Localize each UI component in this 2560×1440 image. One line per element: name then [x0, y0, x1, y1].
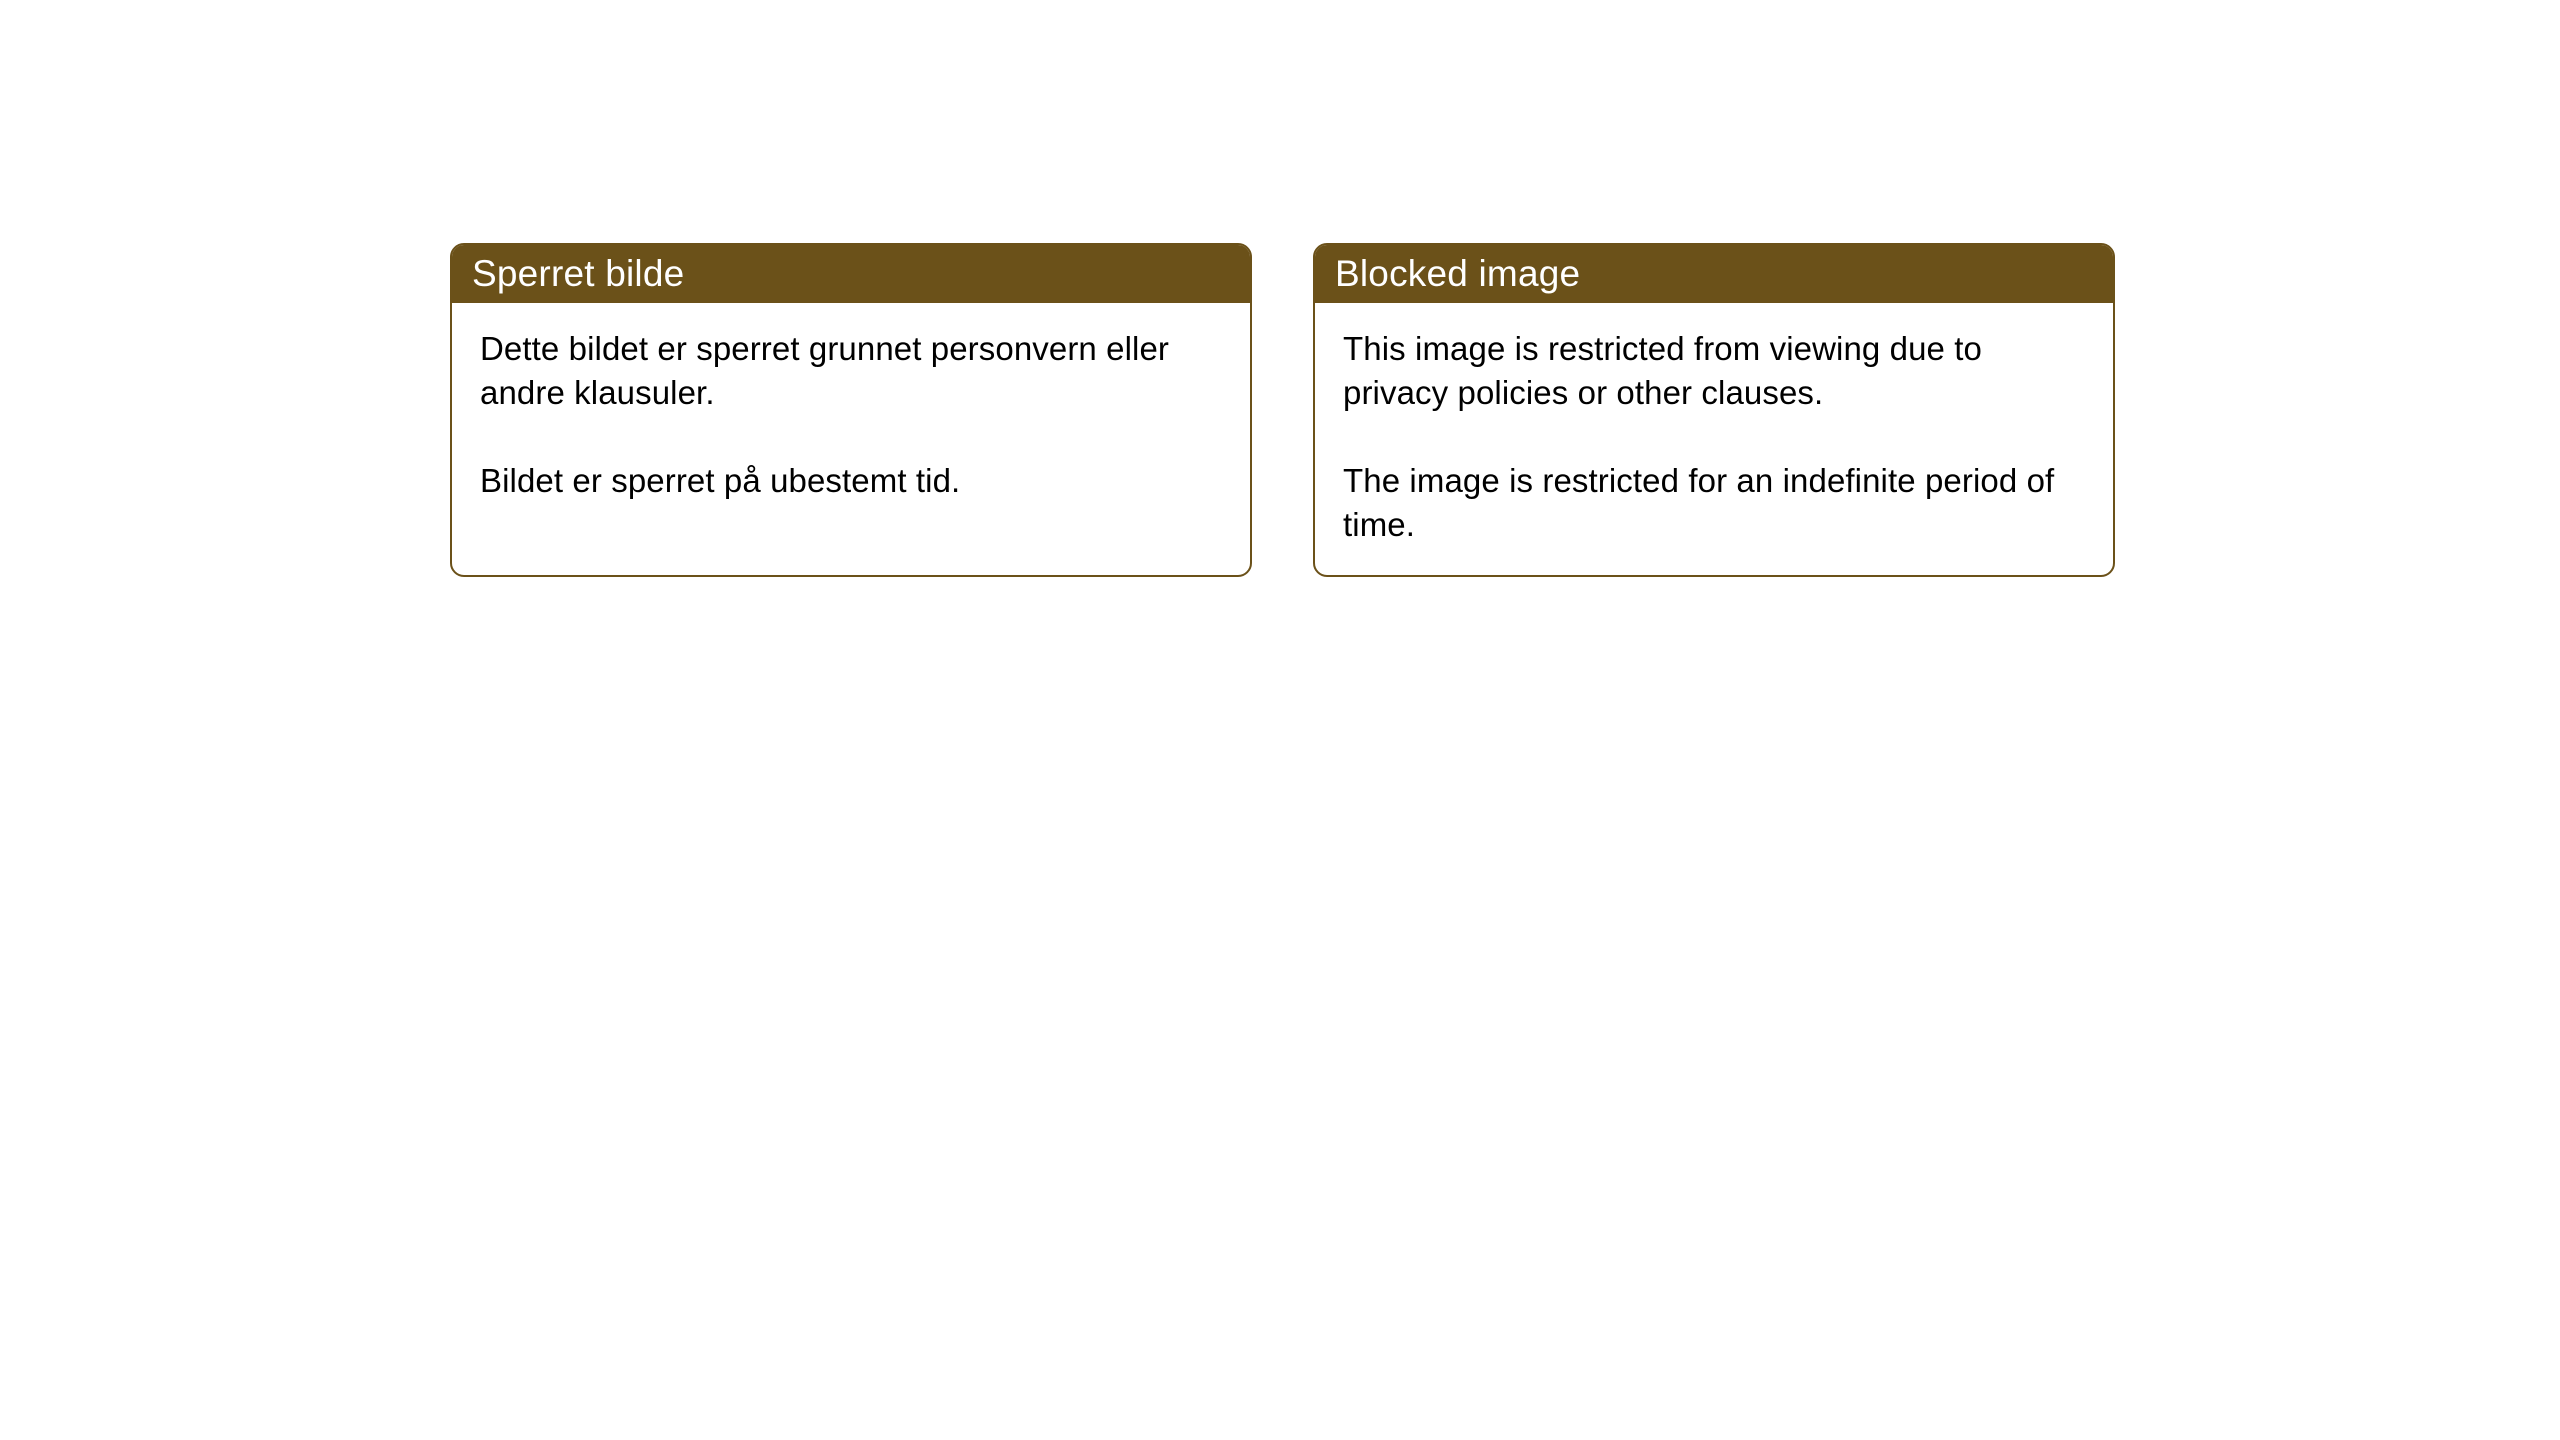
notice-title-norwegian: Sperret bilde — [472, 255, 684, 292]
notice-header-norwegian: Sperret bilde — [450, 243, 1252, 303]
notice-paragraph-primary-norwegian: Dette bildet er sperret grunnet personve… — [480, 327, 1224, 415]
notice-body-norwegian: Dette bildet er sperret grunnet personve… — [452, 303, 1250, 503]
notice-paragraph-secondary-english: The image is restricted for an indefinit… — [1343, 459, 2087, 547]
notice-header-english: Blocked image — [1313, 243, 2115, 303]
notice-paragraph-primary-english: This image is restricted from viewing du… — [1343, 327, 2087, 415]
page-root: Sperret bilde Dette bildet er sperret gr… — [0, 0, 2560, 1440]
notice-body-english: This image is restricted from viewing du… — [1315, 303, 2113, 547]
notice-title-english: Blocked image — [1335, 255, 1580, 292]
blocked-image-notice-norwegian: Sperret bilde Dette bildet er sperret gr… — [450, 243, 1252, 577]
notice-paragraph-secondary-norwegian: Bildet er sperret på ubestemt tid. — [480, 459, 1224, 503]
blocked-image-notice-english: Blocked image This image is restricted f… — [1313, 243, 2115, 577]
